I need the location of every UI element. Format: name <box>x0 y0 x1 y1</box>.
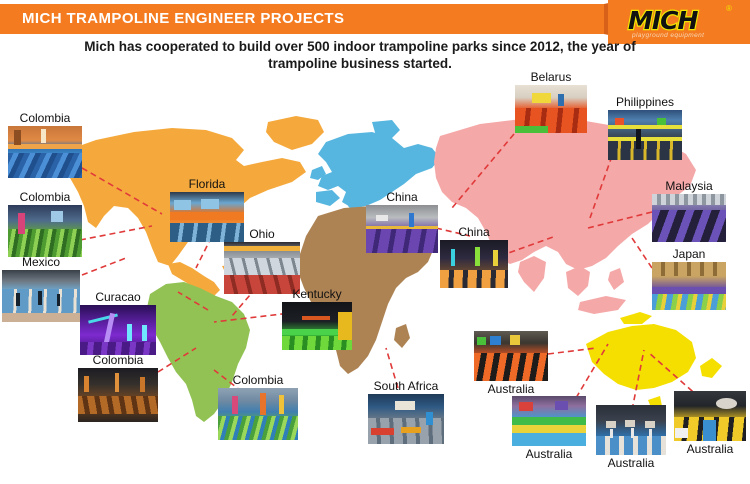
landmass-new-zealand <box>700 358 722 378</box>
project-card-colombia-1[interactable]: Colombia <box>8 126 82 178</box>
landmass-india <box>518 256 546 292</box>
project-photo[interactable] <box>2 270 80 322</box>
project-card-belarus[interactable]: Belarus <box>515 85 587 133</box>
project-photo[interactable] <box>368 394 444 444</box>
project-label: Philippines <box>616 95 674 109</box>
project-label: Colombia <box>233 373 284 387</box>
landmass-iberia <box>316 190 340 206</box>
project-card-china-2[interactable]: China <box>440 240 508 288</box>
project-photo[interactable] <box>652 194 726 242</box>
page-title: MICH TRAMPOLINE ENGINEER PROJECTS <box>22 10 344 27</box>
project-photo[interactable] <box>366 205 438 253</box>
project-card-kentucky[interactable]: Kentucky <box>282 302 352 350</box>
project-label: Australia <box>687 442 734 456</box>
project-label: Australia <box>488 382 535 396</box>
project-label: Malaysia <box>665 179 712 193</box>
project-card-colombia-3[interactable]: Colombia <box>78 368 158 422</box>
project-card-florida[interactable]: Florida <box>170 192 244 242</box>
project-photo[interactable] <box>674 391 746 441</box>
project-label: Curacao <box>95 290 140 304</box>
project-photo[interactable] <box>8 126 82 178</box>
project-card-philippines[interactable]: Philippines <box>608 110 682 160</box>
project-card-japan[interactable]: Japan <box>652 262 726 310</box>
project-label: Colombia <box>20 190 71 204</box>
project-photo[interactable] <box>512 396 586 446</box>
project-card-south-africa[interactable]: South Africa <box>368 394 444 444</box>
project-photo[interactable] <box>608 110 682 160</box>
project-photo[interactable] <box>596 405 666 455</box>
project-label: Florida <box>189 177 226 191</box>
trampoline-projects-map-poster: MICH TRAMPOLINE ENGINEER PROJECTS MICH ®… <box>0 0 750 484</box>
landmass-philippines <box>608 268 624 290</box>
logo-wordmark: MICH <box>628 6 697 35</box>
project-card-colombia-4[interactable]: Colombia <box>218 388 298 440</box>
landmass-southeast-asia <box>566 266 590 296</box>
project-label: Colombia <box>93 353 144 367</box>
landmass-indonesia <box>578 296 626 314</box>
landmass-greenland <box>266 116 324 150</box>
project-photo[interactable] <box>474 331 548 381</box>
registered-trademark-icon: ® <box>726 4 732 13</box>
project-photo[interactable] <box>282 302 352 350</box>
project-photo[interactable] <box>80 305 156 355</box>
project-label: Japan <box>673 247 706 261</box>
project-label: Kentucky <box>292 287 341 301</box>
project-card-mexico[interactable]: Mexico <box>2 270 80 322</box>
continent-australia <box>586 324 696 390</box>
project-photo[interactable] <box>440 240 508 288</box>
project-photo[interactable] <box>78 368 158 422</box>
landmass-new-guinea <box>620 312 652 324</box>
project-label: Belarus <box>531 70 572 84</box>
landmass-madagascar <box>394 324 410 348</box>
project-photo[interactable] <box>652 262 726 310</box>
project-label: Australia <box>608 456 655 470</box>
project-card-ohio[interactable]: Ohio <box>224 242 300 294</box>
project-photo[interactable] <box>218 388 298 440</box>
project-photo[interactable] <box>8 205 82 257</box>
project-photo[interactable] <box>170 192 244 242</box>
project-card-china-1[interactable]: China <box>366 205 438 253</box>
project-card-colombia-2[interactable]: Colombia <box>8 205 82 257</box>
project-card-malaysia[interactable]: Malaysia <box>652 194 726 242</box>
project-photo[interactable] <box>515 85 587 133</box>
project-label: China <box>458 225 489 239</box>
project-card-australia-1[interactable]: Australia <box>474 331 548 381</box>
project-card-curacao[interactable]: Curacao <box>80 305 156 355</box>
project-label: Colombia <box>20 111 71 125</box>
project-label: Australia <box>526 447 573 461</box>
project-label: China <box>386 190 417 204</box>
project-card-australia-3[interactable]: Australia <box>596 405 666 455</box>
project-card-australia-2[interactable]: Australia <box>512 396 586 446</box>
project-label: Mexico <box>22 255 60 269</box>
project-label: Ohio <box>249 227 274 241</box>
project-card-australia-4[interactable]: Australia <box>674 391 746 441</box>
project-photo[interactable] <box>224 242 300 294</box>
project-label: South Africa <box>374 379 439 393</box>
